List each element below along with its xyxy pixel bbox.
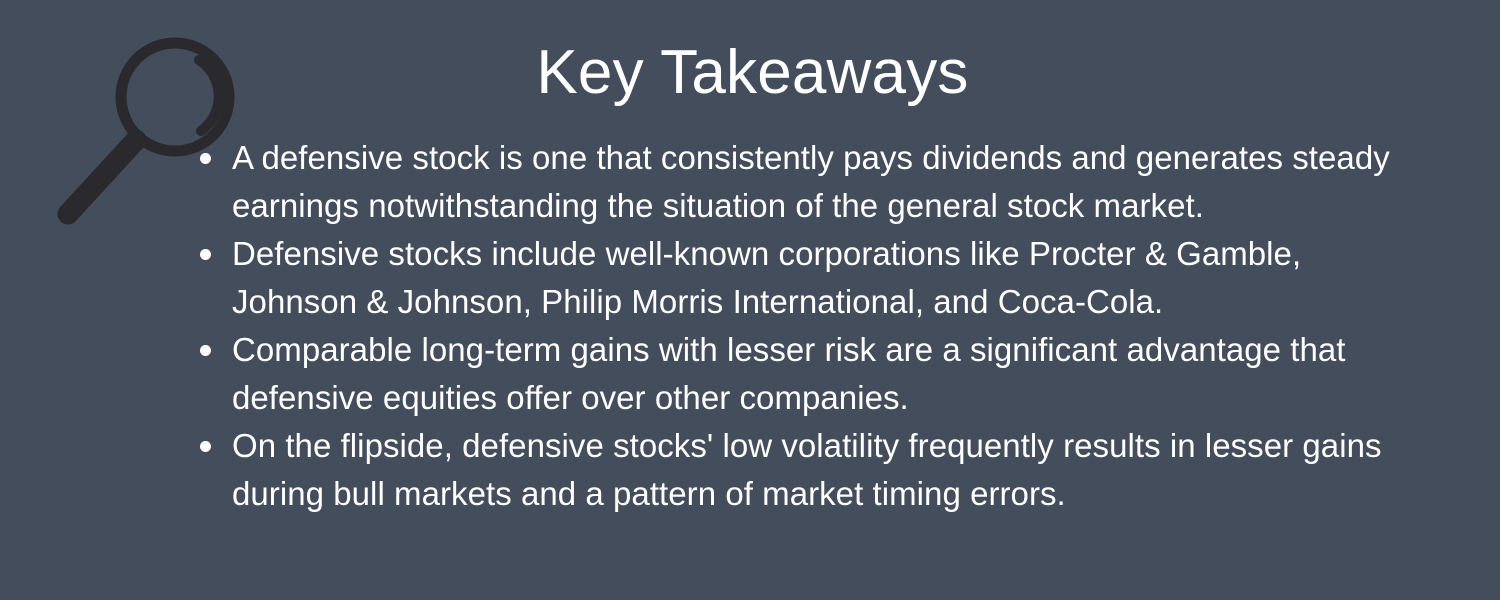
bullet-marker-icon xyxy=(200,153,211,164)
bullet-marker-icon xyxy=(200,441,211,452)
key-takeaways-card: Key Takeaways A defensive stock is one t… xyxy=(0,0,1500,600)
list-item: A defensive stock is one that consistent… xyxy=(196,134,1411,230)
list-item-text: A defensive stock is one that consistent… xyxy=(232,134,1411,230)
takeaways-list: A defensive stock is one that consistent… xyxy=(196,134,1411,518)
list-item: On the flipside, defensive stocks' low v… xyxy=(196,422,1411,518)
magnifier-glare-arc xyxy=(199,60,219,131)
list-item-text: Comparable long-term gains with lesser r… xyxy=(232,326,1411,422)
bullet-marker-icon xyxy=(200,249,211,260)
list-item-text: On the flipside, defensive stocks' low v… xyxy=(232,422,1411,518)
magnifier-handle xyxy=(68,140,136,214)
bullet-marker-icon xyxy=(200,345,211,356)
list-item-text: Defensive stocks include well-known corp… xyxy=(232,230,1411,326)
page-title: Key Takeaways xyxy=(250,38,1255,107)
list-item: Comparable long-term gains with lesser r… xyxy=(196,326,1411,422)
list-item: Defensive stocks include well-known corp… xyxy=(196,230,1411,326)
